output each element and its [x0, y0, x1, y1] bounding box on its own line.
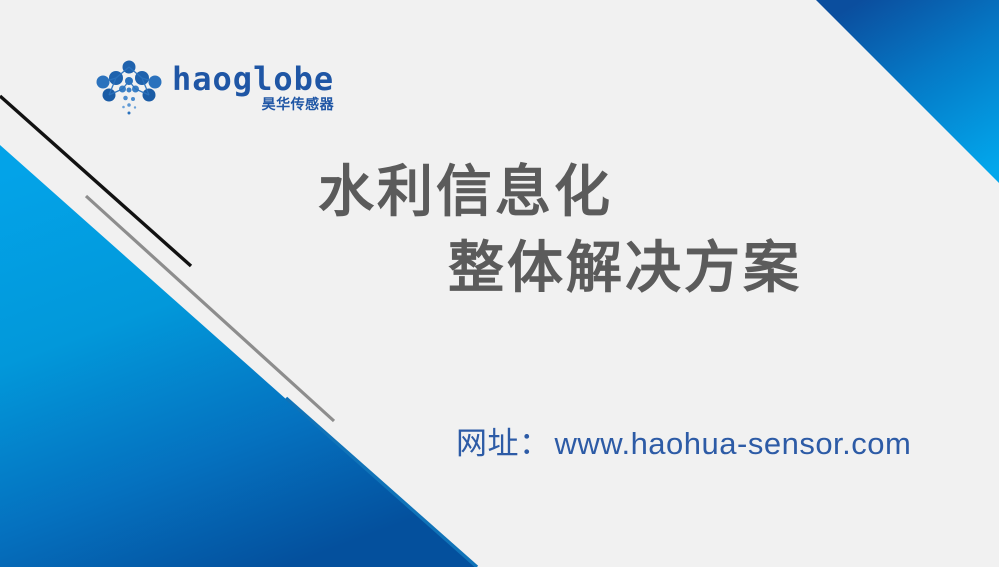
molecular-network-logo-icon — [96, 59, 162, 117]
logo-wordmark: haoglobe — [172, 64, 334, 94]
website-line: 网址： www.haohua-sensor.com — [456, 418, 911, 463]
page-title: 水利信息化 整体解决方案 — [0, 160, 999, 302]
website-label: 网址： — [456, 418, 551, 463]
logo-chinese-name: 昊华传感器 — [262, 98, 335, 112]
website-url[interactable]: www.haohua-sensor.com — [555, 426, 912, 462]
title-line-2: 整体解决方案 — [0, 236, 999, 302]
presentation-slide: haoglobe 昊华传感器 水利信息化 整体解决方案 网址： www.haoh… — [0, 0, 999, 567]
logo-text: haoglobe 昊华传感器 — [172, 64, 334, 111]
title-line-1: 水利信息化 — [0, 160, 999, 226]
company-logo: haoglobe 昊华传感器 — [96, 56, 326, 120]
